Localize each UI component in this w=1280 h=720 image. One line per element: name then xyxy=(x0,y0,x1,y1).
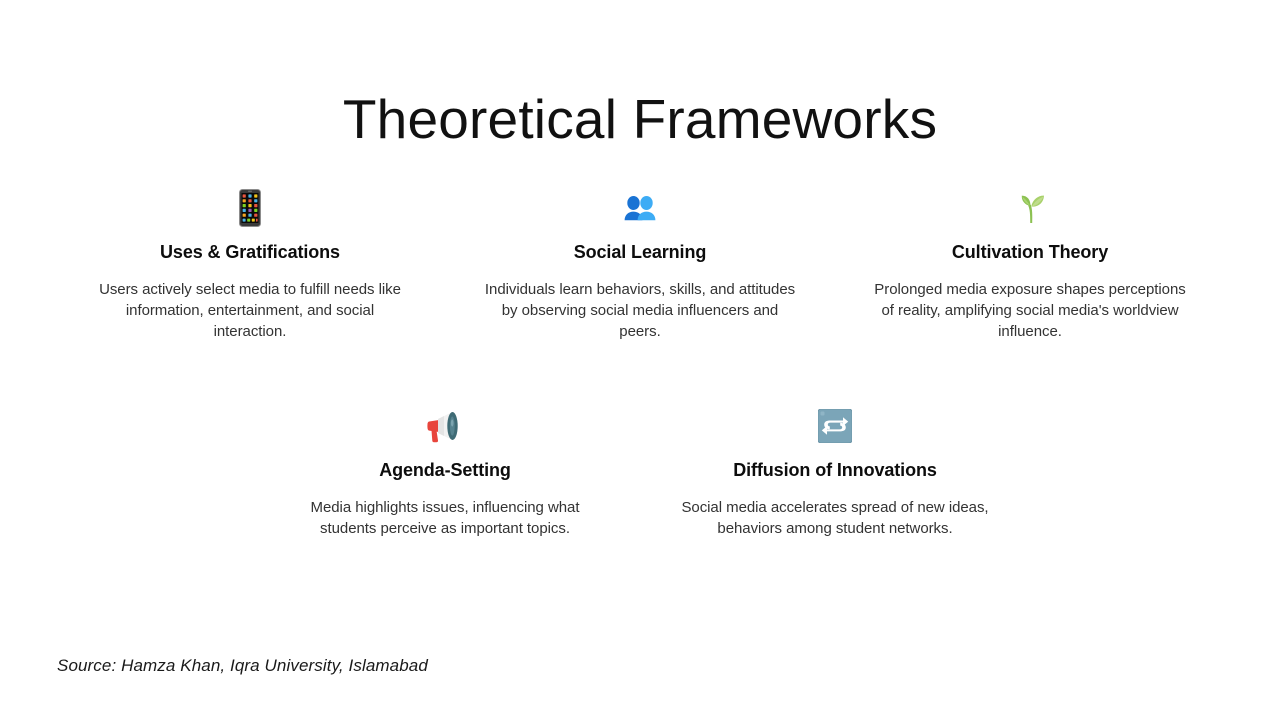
framework-card-uses-gratifications[interactable]: Uses & Gratifications Users actively sel… xyxy=(80,186,420,342)
refresh-arrows-icon xyxy=(818,404,852,448)
framework-card-social-learning[interactable]: Social Learning Individuals learn behavi… xyxy=(470,186,810,342)
framework-card-agenda-setting[interactable]: Agenda-Setting Media highlights issues, … xyxy=(275,404,615,539)
framework-card-body: Social media accelerates spread of new i… xyxy=(679,497,991,539)
framework-row-bottom: Agenda-Setting Media highlights issues, … xyxy=(0,404,1280,539)
framework-card-title: Agenda-Setting xyxy=(379,460,511,482)
framework-card-body: Media highlights issues, influencing wha… xyxy=(289,497,601,539)
two-people-icon xyxy=(624,186,656,230)
framework-card-body: Prolonged media exposure shapes percepti… xyxy=(874,279,1186,342)
seedling-icon xyxy=(1015,186,1045,230)
framework-card-title: Social Learning xyxy=(574,242,707,264)
framework-card-title: Cultivation Theory xyxy=(952,242,1108,264)
mobile-phone-icon xyxy=(239,186,261,230)
megaphone-icon xyxy=(427,404,463,448)
framework-card-title: Uses & Gratifications xyxy=(160,242,340,264)
framework-card-diffusion-of-innovations[interactable]: Diffusion of Innovations Social media ac… xyxy=(665,404,1005,539)
slide-canvas: Theoretical Frameworks xyxy=(0,0,1280,720)
framework-row-top: Uses & Gratifications Users actively sel… xyxy=(0,186,1280,342)
framework-card-body: Individuals learn behaviors, skills, and… xyxy=(484,279,796,342)
page-title: Theoretical Frameworks xyxy=(0,89,1280,150)
framework-card-cultivation-theory[interactable]: Cultivation Theory Prolonged media expos… xyxy=(860,186,1200,342)
framework-card-title: Diffusion of Innovations xyxy=(733,460,937,482)
source-attribution: Source: Hamza Khan, Iqra University, Isl… xyxy=(57,656,428,676)
framework-card-body: Users actively select media to fulfill n… xyxy=(94,279,406,342)
